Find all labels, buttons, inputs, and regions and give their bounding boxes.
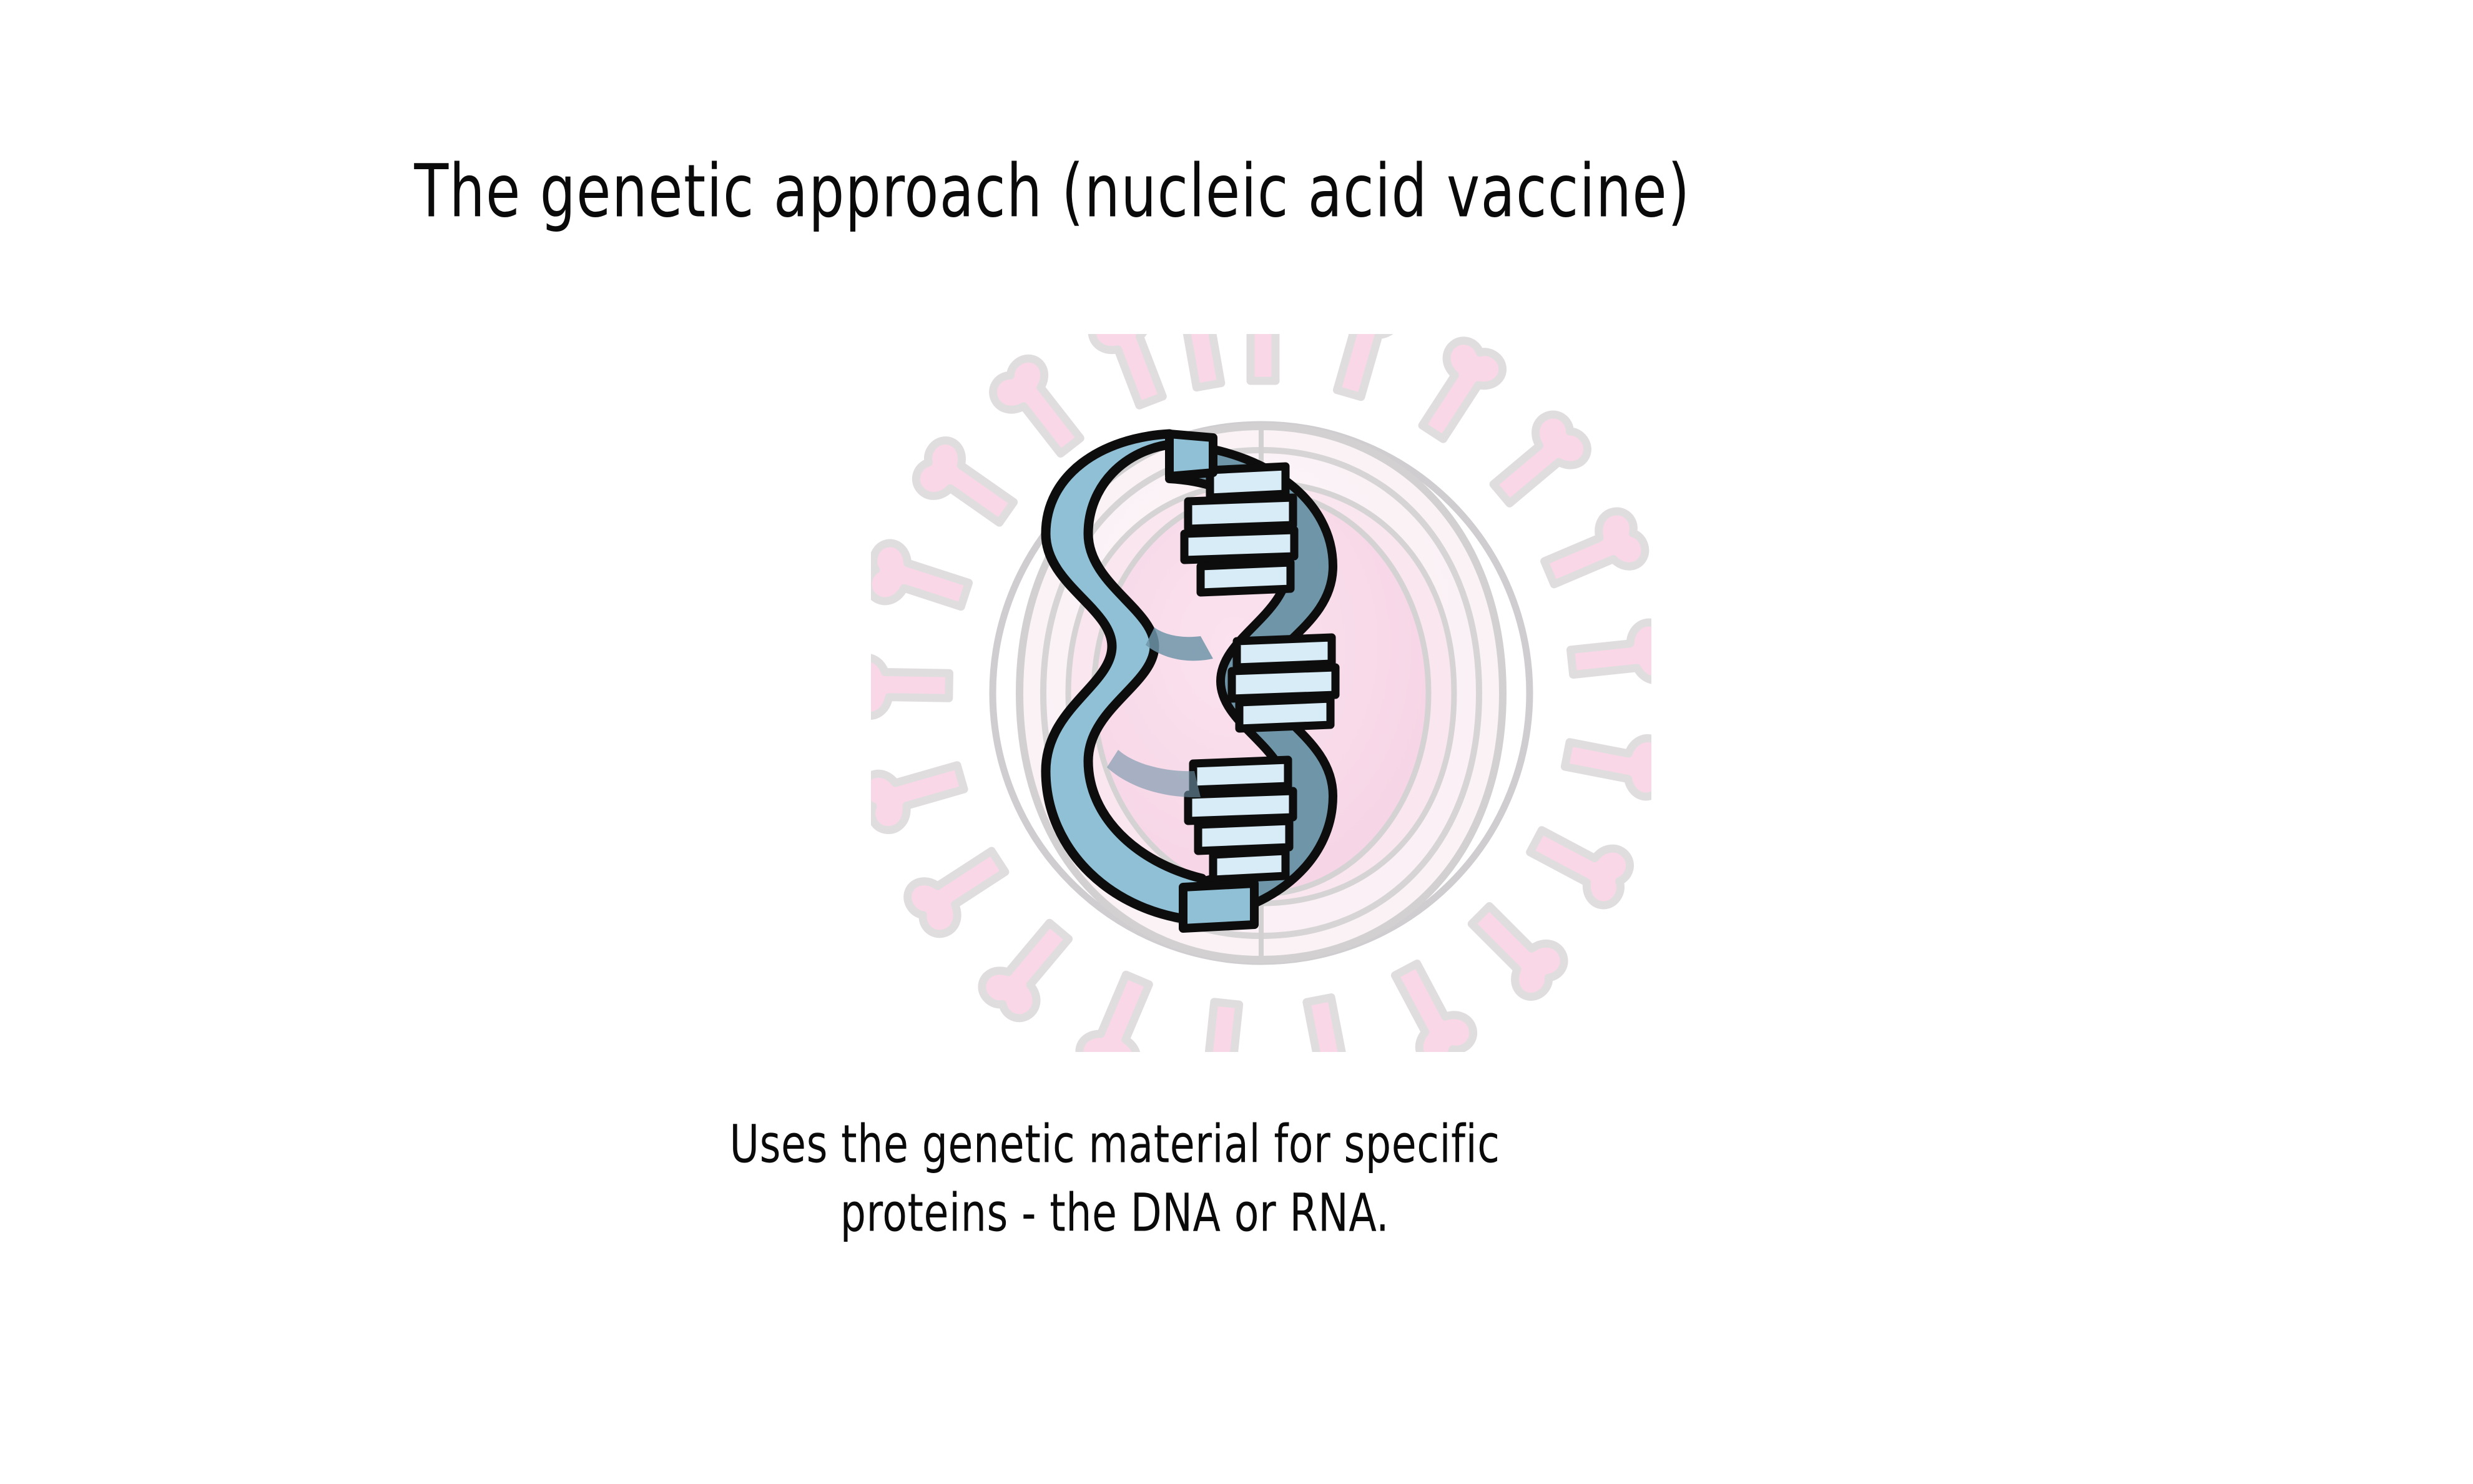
dna-base-pair [1232, 667, 1335, 699]
spike-protein [1382, 955, 1480, 1052]
dna-base-pair [1188, 498, 1293, 529]
spike-protein [975, 914, 1083, 1027]
slide-canvas: The genetic approach (nucleic acid vacci… [0, 0, 2473, 1484]
dna-base-pair [1237, 637, 1332, 667]
spike-protein [1086, 334, 1176, 412]
spike-protein [1462, 893, 1572, 1003]
dna-base-pair [1210, 466, 1286, 498]
page-title: The genetic approach (nucleic acid vacci… [0, 149, 2239, 234]
spike-protein [1161, 334, 1235, 391]
spike-protein [871, 657, 950, 717]
spike-protein [1292, 994, 1369, 1052]
dna-base-pair [1239, 699, 1330, 729]
caption-line-2: proteins - the DNA or RNA. [0, 1179, 2289, 1247]
virus-diagram-svg [871, 334, 1651, 1052]
dna-base-pair [1193, 760, 1288, 790]
dna-end-cap-bottom [1183, 883, 1254, 928]
spike-protein [871, 752, 969, 835]
dna-end-cap-top [1169, 434, 1213, 476]
spike-protein [1523, 813, 1638, 911]
dna-base-pair [1184, 530, 1294, 560]
dna-base-pair [1201, 563, 1291, 592]
spike-protein [1319, 334, 1402, 401]
spike-protein [1568, 621, 1651, 689]
spike-protein [902, 839, 1016, 941]
dna-base-pair [1198, 821, 1289, 851]
spike-protein [1481, 406, 1594, 514]
spike-protein [1231, 334, 1289, 381]
spike-protein [1537, 505, 1650, 597]
figure-caption: Uses the genetic material for specific p… [0, 1110, 2289, 1248]
caption-line-1: Uses the genetic material for specific [0, 1110, 2289, 1179]
spike-protein [1406, 334, 1508, 447]
virus-illustration [871, 334, 1651, 1052]
spike-protein [871, 539, 973, 624]
spike-protein [908, 434, 1022, 538]
spike-protein [985, 352, 1091, 466]
spike-protein [1190, 1000, 1258, 1052]
dna-base-pair [1188, 791, 1293, 821]
spike-protein [1562, 724, 1651, 800]
spike-protein [1074, 969, 1166, 1052]
dna-base-pair [1213, 851, 1286, 880]
